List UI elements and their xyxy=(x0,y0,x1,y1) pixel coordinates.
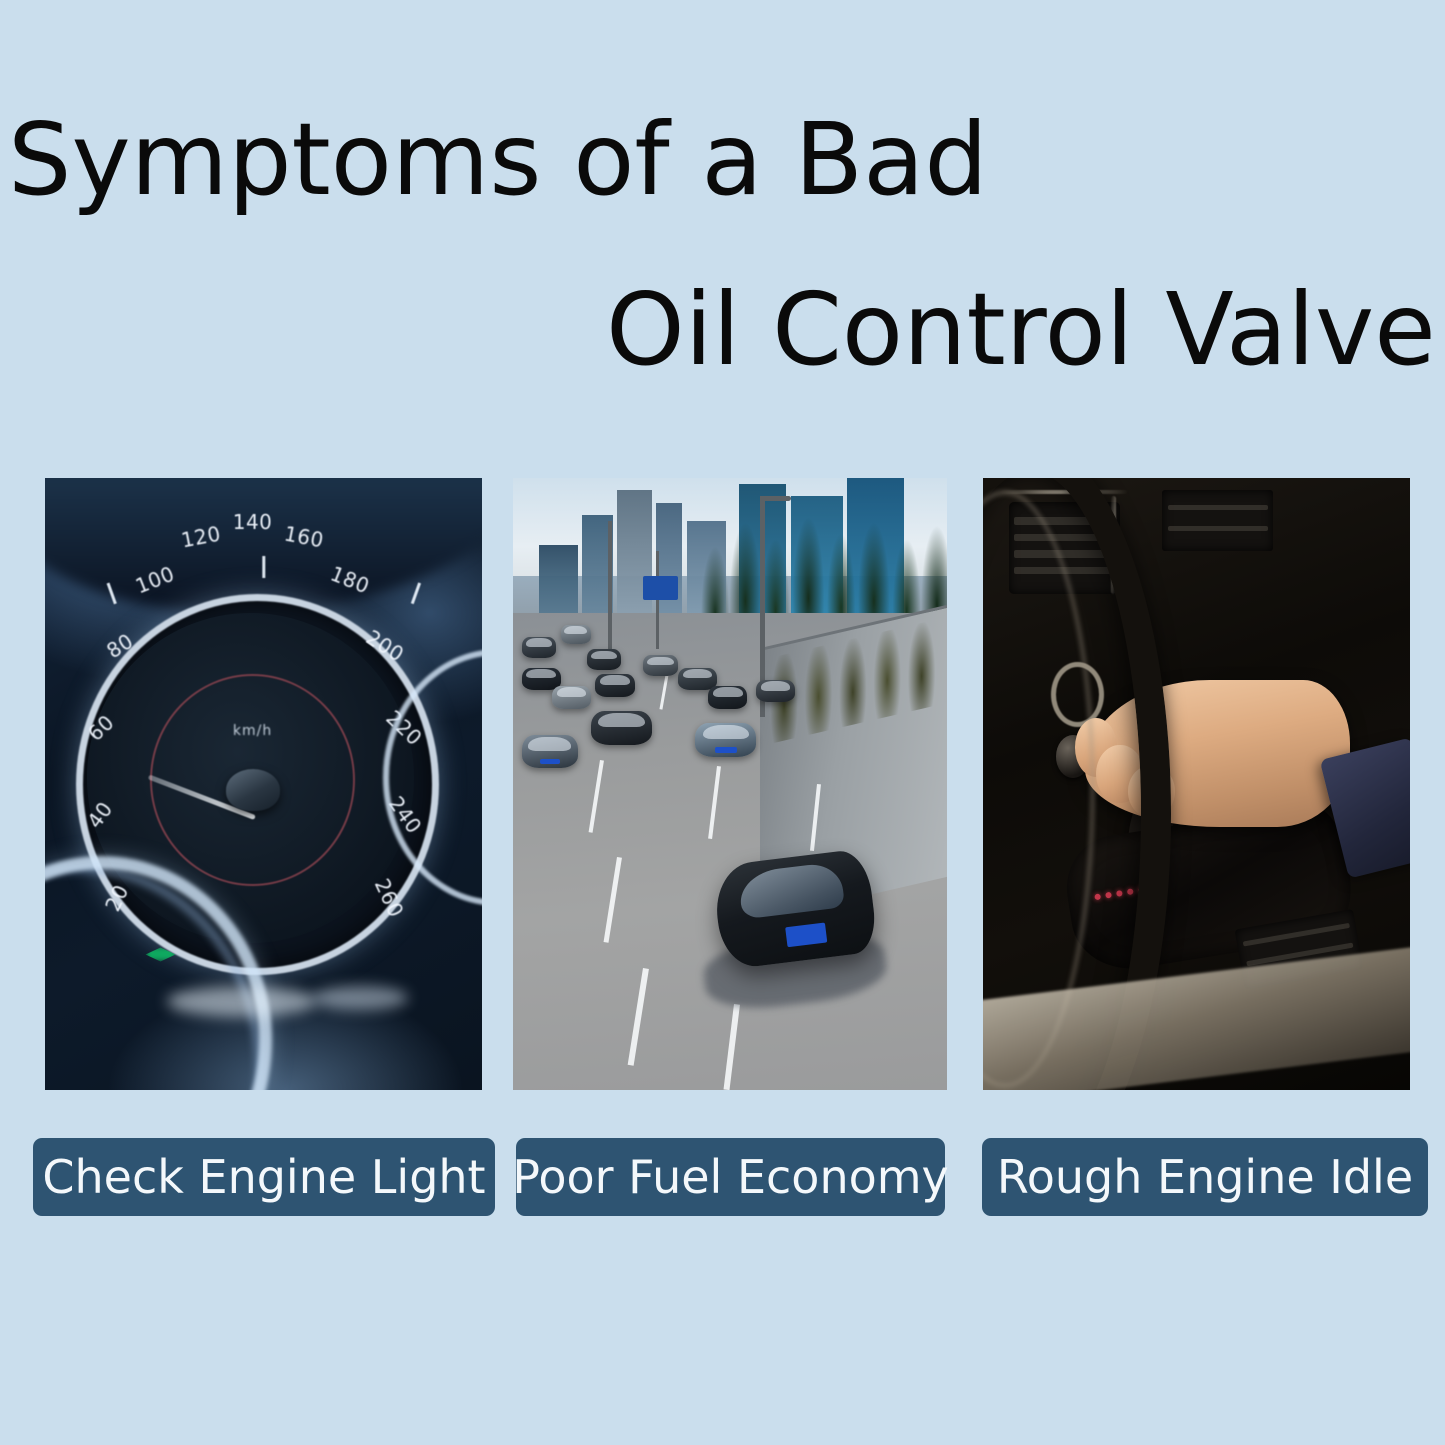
gauge-tick xyxy=(262,556,265,578)
car-interior-ignition-photo xyxy=(983,478,1410,1090)
traffic-car xyxy=(695,723,756,757)
gauge-tick-label: 100 xyxy=(132,561,178,598)
gauge-tick-label: 80 xyxy=(103,629,138,663)
traffic-car xyxy=(522,735,578,768)
hero-car-license-plate xyxy=(785,923,828,949)
page-title: Symptoms of a Bad Oil Control Valve xyxy=(0,0,1445,450)
gauge-tick-label: 140 xyxy=(233,510,273,534)
gauge-tick xyxy=(106,582,117,604)
traffic-car xyxy=(522,668,561,690)
street-lamp-post xyxy=(656,551,659,649)
gauge-tick-label: 200 xyxy=(361,625,407,667)
symptom-captions: Check Engine Light Poor Fuel Economy Rou… xyxy=(0,1138,1445,1218)
traffic-car xyxy=(678,668,717,690)
caption-poor-fuel-economy[interactable]: Poor Fuel Economy xyxy=(516,1138,945,1216)
gauge-tick-label: 60 xyxy=(84,710,120,746)
traffic-car xyxy=(595,674,634,697)
traffic-car xyxy=(552,686,591,709)
gauge-tick-label: 260 xyxy=(369,875,408,921)
air-vent xyxy=(1162,490,1273,551)
hero-car xyxy=(711,848,879,970)
gauge-tick-label: 180 xyxy=(327,561,373,598)
traffic-car xyxy=(643,655,678,676)
speedometer-instrument-cluster-photo: 20406080100120140160180200220240260 km/h xyxy=(45,478,482,1090)
traffic-car xyxy=(522,637,557,658)
gauge-tick-label: 40 xyxy=(83,797,118,833)
traffic-car xyxy=(708,686,747,709)
gauge-tick-label: 160 xyxy=(283,521,326,552)
caption-rough-engine-idle[interactable]: Rough Engine Idle xyxy=(982,1138,1428,1216)
caption-check-engine-light[interactable]: Check Engine Light xyxy=(33,1138,495,1216)
gauge-tick xyxy=(410,582,421,604)
dash-glare-left xyxy=(167,986,316,1017)
highway-sign xyxy=(643,576,678,600)
street-lamp-post xyxy=(608,521,612,656)
symptom-panel-check-engine-light: 20406080100120140160180200220240260 km/h xyxy=(45,478,482,1090)
city-building xyxy=(617,490,652,625)
highway-traffic-photo xyxy=(513,478,947,1090)
hero-car-windshield xyxy=(737,862,845,920)
title-line-1: Symptoms of a Bad xyxy=(8,110,988,210)
city-building xyxy=(656,503,682,625)
gauge-unit-label: km/h xyxy=(233,723,272,739)
symptom-panels: 20406080100120140160180200220240260 km/h xyxy=(0,478,1445,1093)
traffic-car xyxy=(587,649,622,670)
symptom-panel-poor-fuel-economy xyxy=(513,478,947,1090)
symptom-panel-rough-engine-idle xyxy=(983,478,1410,1090)
traffic-car xyxy=(756,680,795,702)
gauge-needle-hub xyxy=(226,769,280,811)
street-lamp-arm xyxy=(760,496,790,501)
title-line-2: Oil Control Valve xyxy=(606,280,1436,380)
gauge-tick-label: 120 xyxy=(179,521,222,552)
traffic-car xyxy=(591,711,652,745)
traffic-car xyxy=(561,625,591,645)
